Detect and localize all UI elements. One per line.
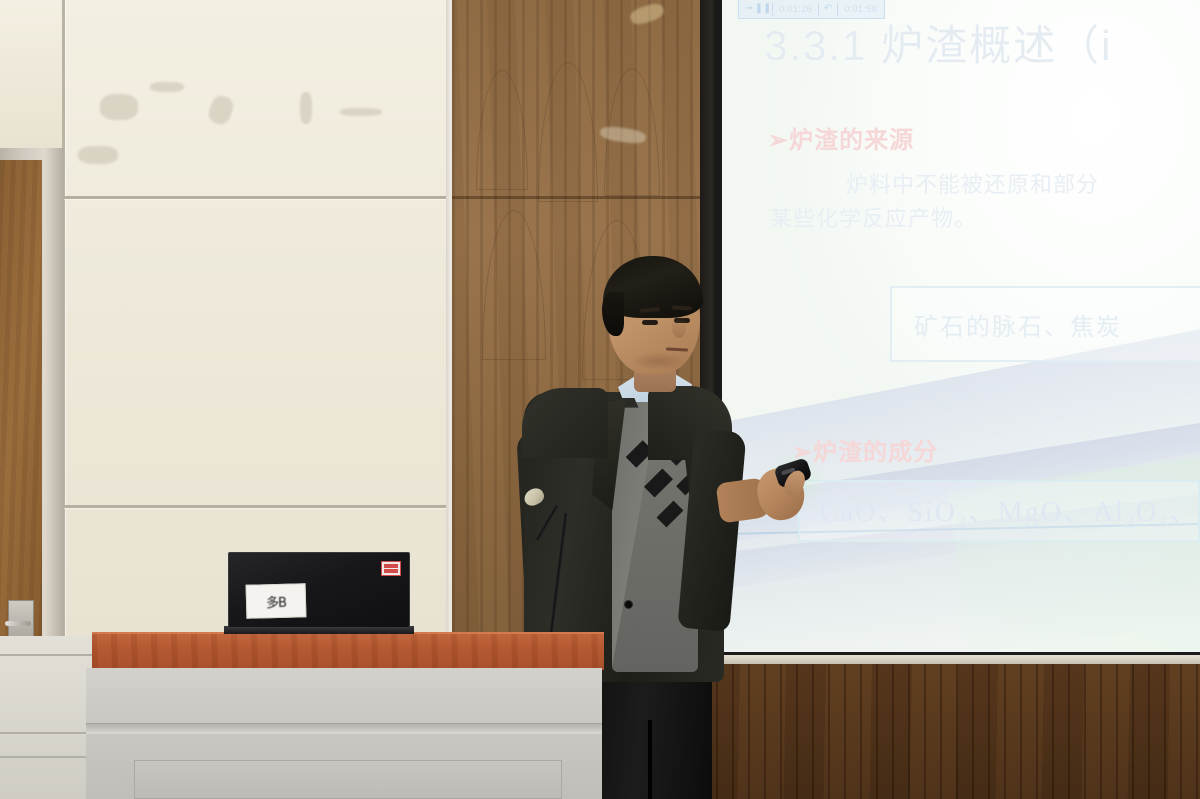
sticker-bar-2 [384,569,398,573]
pause-icon[interactable]: ❚❚ [756,2,770,16]
toolbar-divider-1 [772,3,773,16]
slide-body-line-2: 某些化学反应产物。 [770,206,977,231]
total-time: 0:01:58 [840,4,881,15]
wall-scuff-c [300,92,312,124]
presenter-jacket-button [624,600,633,609]
wall-seam-horizontal [62,196,452,199]
formula-sub-3: 3 [1158,511,1169,531]
slide-heading-source: ➢炉渣的来源 [768,120,914,155]
formula-sub-2: 2 [1125,511,1136,531]
laptop-name-label: 多B [246,583,307,619]
laptop-asset-sticker [381,561,401,576]
dark-wood-wainscot [700,660,1200,799]
wall-panel-upper-left [0,0,68,150]
wood-grain-b [538,62,598,202]
elapsed-time: 0:01:26 [775,4,816,15]
presenter-eye-left [642,320,658,325]
ppt-playback-toolbar[interactable]: ➞ ❚❚ 0:01:26 ↶ 0:01:58 [738,0,885,19]
wall-scuff-f [78,146,118,164]
wall-scuff-e [100,94,138,120]
replay-icon[interactable]: ↶ [821,2,835,16]
formula-o: O [1136,497,1158,528]
slide-body-line-1: 炉料中不能被还原和部分 [770,168,1200,202]
wood-grain-a [476,70,528,190]
sticker-bar-1 [384,564,398,568]
wall-scuff-d [340,108,382,116]
podium-top-grain [92,634,604,668]
slide-callout-box: 矿石的脉石、焦炭 [890,286,1200,362]
presenter-chin-shadow [630,352,686,370]
formula-sub-1: 2 [957,511,968,531]
podium-band [86,723,602,734]
projection-screen: ➞ ❚❚ 0:01:26 ↶ 0:01:58 3.3.1 炉渣概述（i ➢炉渣的… [722,0,1200,652]
lecture-photo-scene: ➞ ❚❚ 0:01:26 ↶ 0:01:58 3.3.1 炉渣概述（i ➢炉渣的… [0,0,1200,799]
toolbar-divider-2 [818,3,819,16]
podium-left-cabinet [0,636,92,799]
wood-grain-d [482,210,546,360]
slide-formula-box: CaO、SiO2、MgO、Al2O3、 [798,480,1200,542]
wood-panel-seam [452,196,700,199]
presenter-trouser-seam [648,720,652,799]
formula-suffix: 、 [1169,497,1199,528]
toolbar-divider-3 [837,3,838,16]
cabinet-seam-2 [0,732,92,734]
cabinet-seam-3 [0,756,92,758]
slide-callout-text: 矿石的脉石、焦炭 [892,307,1122,342]
slide-title: 3.3.1 炉渣概述（i [764,22,1112,69]
cabinet-seam-1 [0,654,92,656]
presenter-shoulder-left [522,388,608,458]
podium-recessed-panel [134,760,562,799]
presenter-nose [672,318,686,338]
wainscot-top-rail [700,655,1200,664]
wall-seam-horizontal-lower [62,505,452,508]
formula-prefix: CaO、SiO [820,497,957,528]
slide-formula-text: CaO、SiO2、MgO、Al2O3、 [800,490,1199,533]
laptop-label-text: 多B [266,591,286,611]
slide-body-text: 炉料中不能被还原和部分 某些化学反应产物。 [770,168,1200,236]
wall-scuff-a [150,82,184,92]
formula-mid: 、MgO、Al [968,497,1125,528]
